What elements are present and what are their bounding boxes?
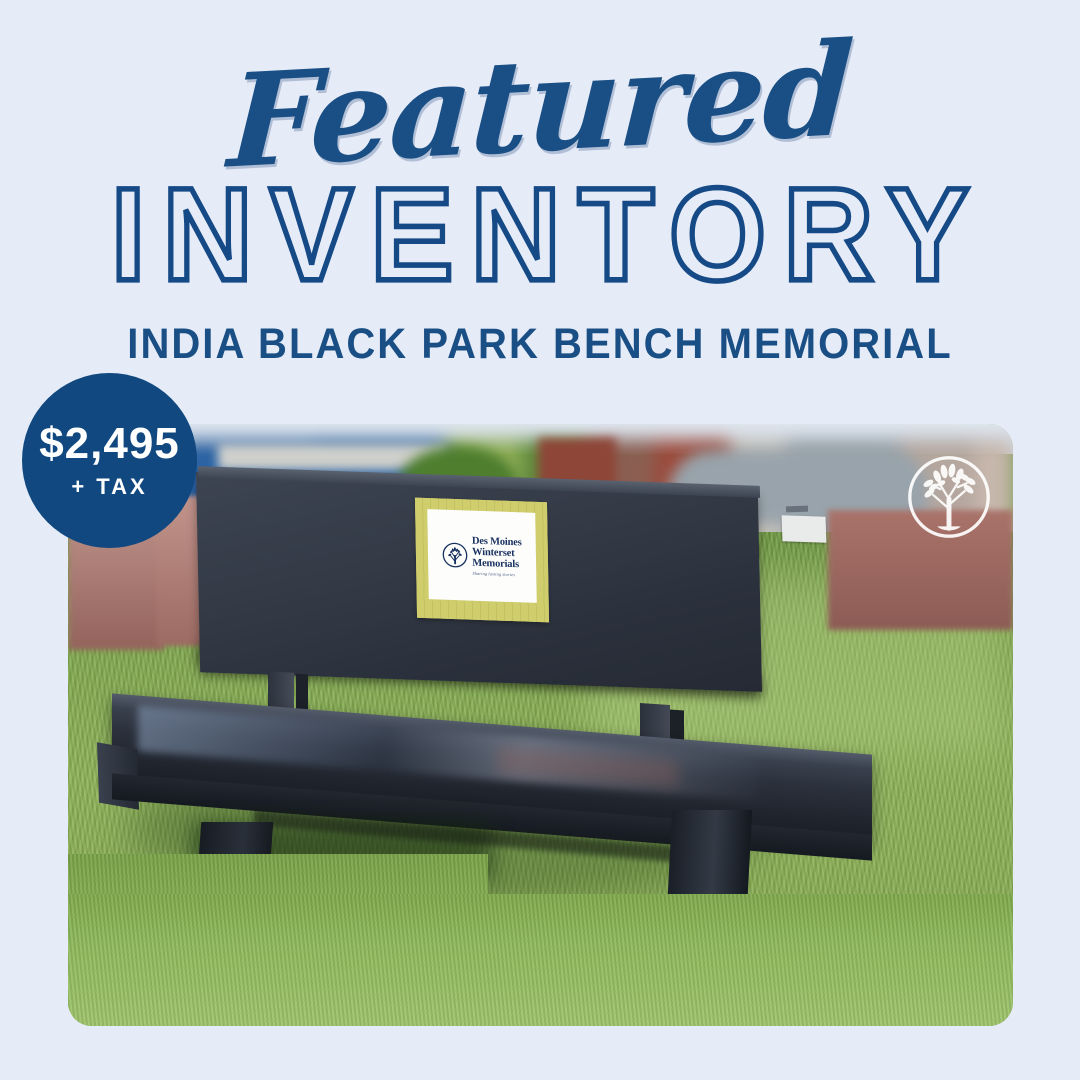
tree-icon xyxy=(442,542,468,569)
sign-line-3: Memorials xyxy=(472,558,522,571)
grass-foreground xyxy=(68,894,1013,1026)
price-tax-note: + TAX xyxy=(71,474,147,500)
headline-block: Featured INVENTORY INDIA BLACK PARK BENC… xyxy=(0,0,1080,369)
company-sign: Des Moines Winterset Memorials Sharing l… xyxy=(427,509,537,603)
price-badge: $2,495 + TAX xyxy=(22,373,197,548)
bench-inventory-sticker xyxy=(782,515,827,543)
price-value: $2,495 xyxy=(39,422,180,466)
poster-canvas: Featured INVENTORY INDIA BLACK PARK BENC… xyxy=(0,0,1080,1080)
bench-pencil-mark xyxy=(786,506,808,513)
sign-tagline: Sharing lasting stories xyxy=(472,571,522,578)
product-subtitle: INDIA BLACK PARK BENCH MEMORIAL xyxy=(38,320,1042,369)
product-photo: Des Moines Winterset Memorials Sharing l… xyxy=(68,424,1013,1026)
tree-in-circle-icon xyxy=(900,448,998,546)
page-title-outline: INVENTORY xyxy=(0,169,1080,301)
